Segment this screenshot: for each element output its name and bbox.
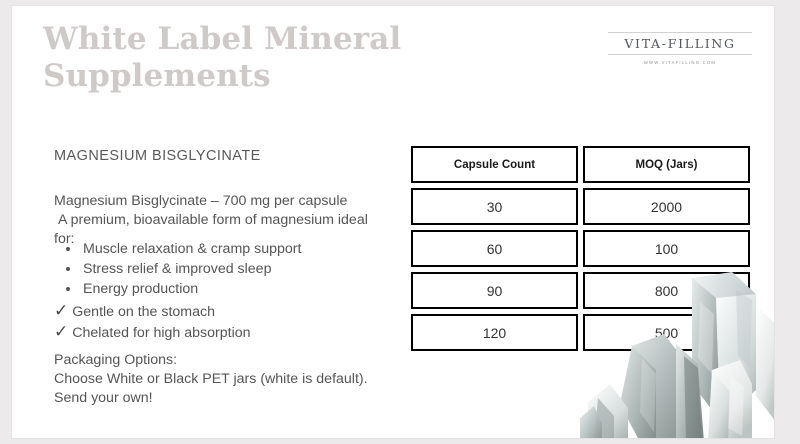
table-cell-moq: 100 (583, 230, 750, 267)
benefits-list: Muscle relaxation & cramp support Stress… (54, 239, 301, 299)
table-cell-capsule-count: 60 (411, 230, 578, 267)
list-item: Muscle relaxation & cramp support (81, 239, 301, 259)
list-item: Energy production (81, 279, 301, 299)
list-item: Stress relief & improved sleep (81, 259, 301, 279)
slide-canvas: White Label Mineral Supplements VITA-FIL… (11, 5, 775, 439)
description-line-dosage: Magnesium Bisglycinate – 700 mg per caps… (54, 192, 384, 211)
page-title: White Label Mineral Supplements (43, 21, 403, 94)
packaging-options: Packaging Options: Choose White or Black… (54, 351, 404, 408)
logo-brand-name: VITA-FILLING (608, 33, 752, 54)
table-cell-moq: 500 (583, 314, 750, 351)
table-header-capsule-count: Capsule Count (411, 146, 578, 183)
table-cell-capsule-count: 90 (411, 272, 578, 309)
moq-table: Capsule Count MOQ (Jars) 30 2000 60 100 … (411, 146, 750, 356)
logo-website-url: WWW.VITAFILLING.COM (608, 55, 752, 65)
table-row: 60 100 (411, 230, 750, 267)
table-cell-moq: 800 (583, 272, 750, 309)
brand-logo: VITA-FILLING WWW.VITAFILLING.COM (608, 32, 752, 65)
check-icon: ✓ (54, 302, 68, 319)
table-header-row: Capsule Count MOQ (Jars) (411, 146, 750, 183)
checklist: ✓ Gentle on the stomach ✓ Chelated for h… (54, 302, 251, 343)
check-label: Chelated for high absorption (72, 323, 250, 344)
product-name-heading: MAGNESIUM BISGLYCINATE (54, 148, 261, 164)
table-cell-capsule-count: 30 (411, 188, 578, 225)
list-item: ✓ Gentle on the stomach (54, 302, 251, 323)
table-row: 120 500 (411, 314, 750, 351)
check-icon: ✓ (54, 323, 68, 340)
table-row: 30 2000 (411, 188, 750, 225)
table-cell-capsule-count: 120 (411, 314, 578, 351)
list-item: ✓ Chelated for high absorption (54, 323, 251, 344)
table-header-moq: MOQ (Jars) (583, 146, 750, 183)
check-label: Gentle on the stomach (72, 302, 215, 323)
table-cell-moq: 2000 (583, 188, 750, 225)
table-row: 90 800 (411, 272, 750, 309)
